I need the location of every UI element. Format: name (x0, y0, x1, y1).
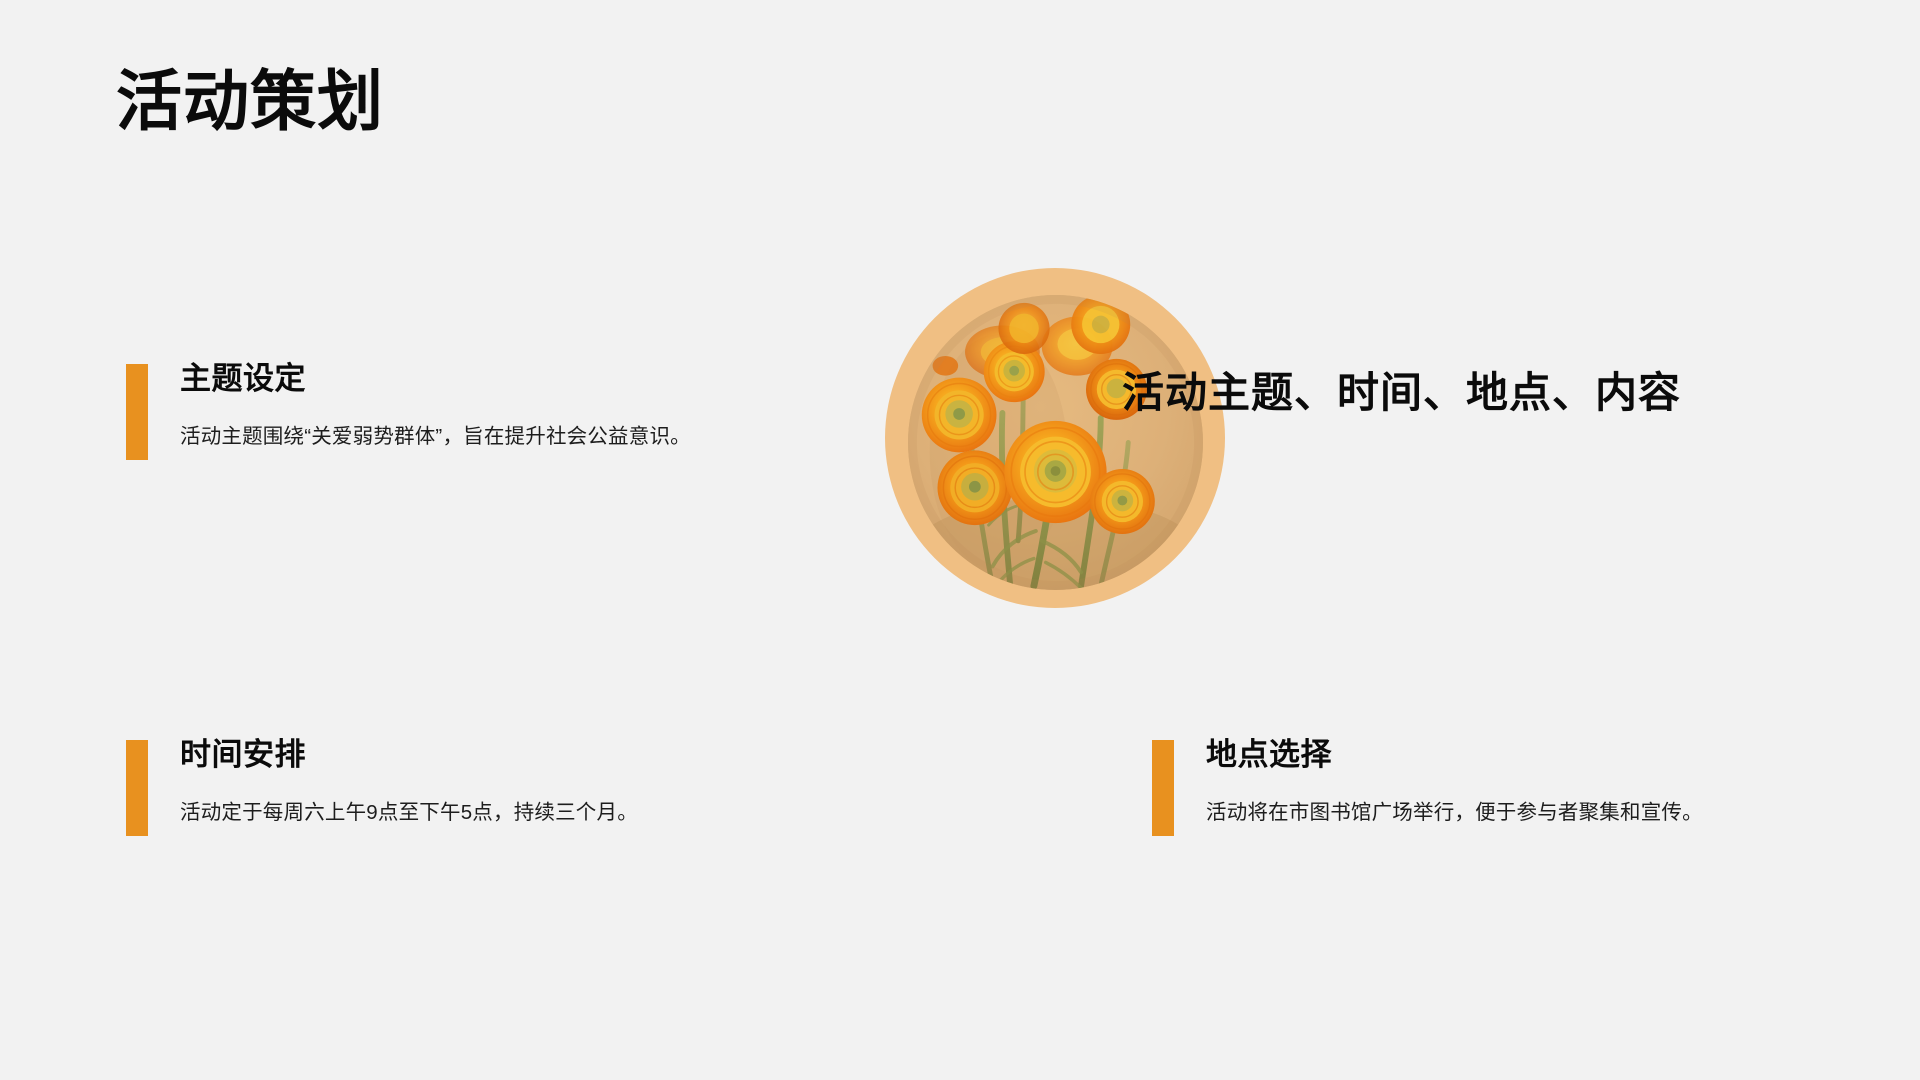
page-title: 活动策划 (116, 62, 384, 141)
slide-canvas: 活动策划 (0, 0, 1920, 1080)
feature-heading: 地点选择 (1206, 736, 1332, 775)
media-circle-frame (885, 268, 1225, 608)
feature-heading: 主题设定 (180, 360, 306, 399)
accent-bar-icon (126, 364, 148, 460)
feature-body: 活动主题围绕“关爱弱势群体”，旨在提升社会公益意识。 (180, 422, 691, 453)
accent-bar-icon (126, 740, 148, 836)
feature-body: 活动将在市图书馆广场举行，便于参与者聚集和宣传。 (1206, 798, 1703, 829)
feature-heading: 时间安排 (180, 736, 306, 775)
flowers-photo (908, 295, 1203, 590)
accent-bar-icon (1152, 740, 1174, 836)
headline-text: 活动主题、时间、地点、内容 (1122, 368, 1681, 418)
feature-body: 活动定于每周六上午9点至下午5点，持续三个月。 (180, 798, 638, 829)
